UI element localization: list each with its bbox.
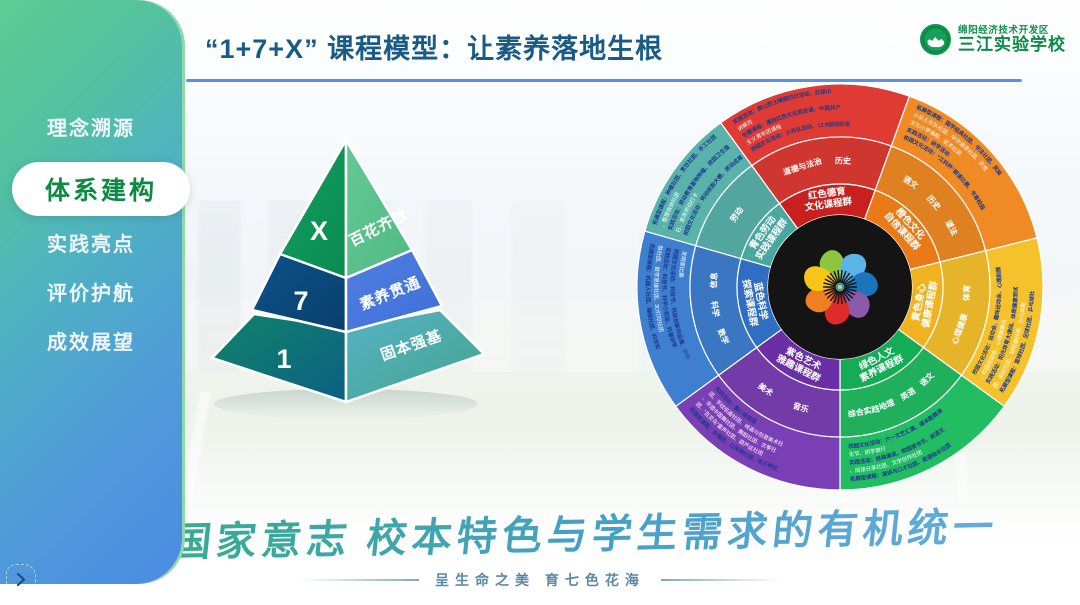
flower-core — [838, 285, 842, 289]
wheel-subject-label: 体育 — [961, 285, 972, 301]
page-title: “1+7+X” 课程模型：让素养落地生根 — [205, 27, 663, 66]
sidebar-item-outlook[interactable]: 成效展望 — [0, 326, 182, 355]
pyramid-face-x-left — [280, 140, 346, 278]
school-name-label: 三江实验学校 — [958, 36, 1066, 54]
sidebar-item-system-construction[interactable]: 体系建构 — [12, 162, 190, 216]
school-logo: 绵阳经济技术开发区 三江实验学校 — [920, 24, 1066, 55]
sidebar-nav: 理念溯源 体系建构 实践亮点 评价护航 成效展望 — [0, 0, 182, 584]
pyramid-code-1: 1 — [276, 344, 291, 374]
footer-divider-right — [661, 579, 781, 581]
sidebar-item-system-construction-label: 体系建构 — [45, 171, 157, 207]
footer-divider-left — [299, 579, 419, 581]
wheel-subject-label: 历史 — [835, 155, 852, 165]
footer-motto: 呈生命之美 育七色花海 — [435, 570, 645, 590]
wheel-subject-label: 信息 — [708, 272, 719, 289]
slide-canvas: 新时代 江汉新三江 “1+7+X” 课程模型：让素养落地生根 绵阳经济技术开发区… — [0, 0, 1080, 605]
curriculum-wheel-diagram: 红色德育文化课程群道德与法治历史实践活动：爬山烈士陵园扫日活动、红领巾讲解员专题… — [625, 82, 1055, 492]
chevron-right-icon — [16, 573, 27, 586]
school-logo-text: 绵阳经济技术开发区 三江实验学校 — [958, 26, 1066, 54]
pyramid-code-7: 7 — [293, 286, 308, 316]
sidebar-item-practice-highlights[interactable]: 实践亮点 — [0, 228, 182, 257]
sidebar-collapse-button[interactable] — [6, 564, 36, 594]
school-emblem-icon — [920, 24, 951, 55]
sidebar-item-evaluation[interactable]: 评价护航 — [0, 277, 182, 306]
sidebar-item-idea-origin[interactable]: 理念溯源 — [0, 112, 182, 141]
pyramid-code-x: X — [310, 216, 328, 246]
pyramid-diagram: 1 固本强基 7 素养贯通 X 百花齐放 — [196, 132, 506, 432]
